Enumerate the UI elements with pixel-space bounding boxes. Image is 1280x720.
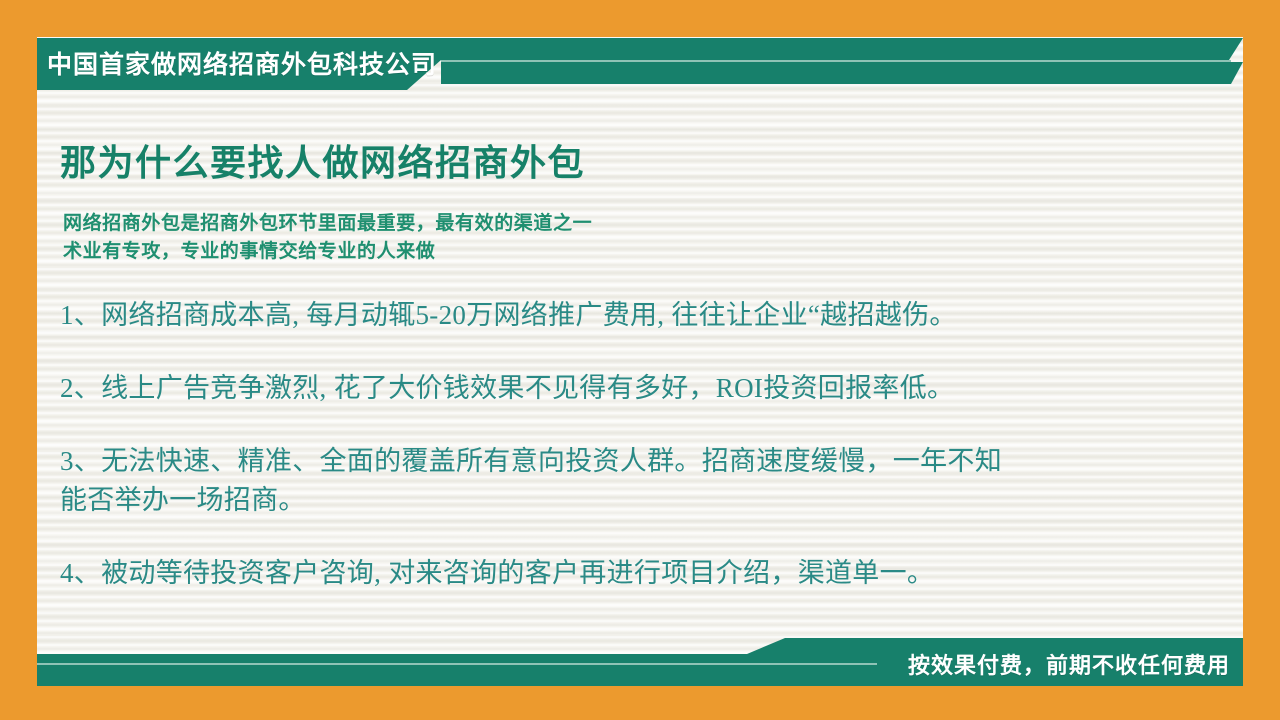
header-ribbon-label: 中国首家做网络招商外包科技公司 — [47, 47, 607, 83]
page-subtitle: 网络招商外包是招商外包环节里面最重要，最有效的渠道之一 术业有专攻，专业的事情交… — [63, 210, 592, 266]
slide-canvas: 中国首家做网络招商外包科技公司 那为什么要找人做网络招商外包 网络招商外包是招商… — [0, 0, 1280, 720]
subtitle-line-2: 术业有专攻，专业的事情交给专业的人来做 — [63, 238, 592, 266]
body-list: 1、网络招商成本高, 每月动辄5-20万网络推广费用, 往往让企业“越招越伤。 … — [60, 296, 1200, 593]
list-item-line-2: 能否举办一场招商。 — [60, 481, 1200, 520]
list-item: 4、被动等待投资客户咨询, 对来咨询的客户再进行项目介绍，渠道单一。 — [60, 554, 1200, 593]
subtitle-line-1: 网络招商外包是招商外包环节里面最重要，最有效的渠道之一 — [63, 210, 592, 238]
list-item-line-1: 3、无法快速、精准、全面的覆盖所有意向投资人群。招商速度缓慢，一年不知 — [60, 446, 1002, 476]
list-item: 3、无法快速、精准、全面的覆盖所有意向投资人群。招商速度缓慢，一年不知 能否举办… — [60, 442, 1200, 520]
list-item-line-1: 1、网络招商成本高, 每月动辄5-20万网络推广费用, 往往让企业“越招越伤。 — [60, 300, 957, 330]
list-item: 1、网络招商成本高, 每月动辄5-20万网络推广费用, 往往让企业“越招越伤。 — [60, 296, 1200, 335]
list-item: 2、线上广告竞争激烈, 花了大价钱效果不见得有多好，ROI投资回报率低。 — [60, 369, 1200, 408]
page-title: 那为什么要找人做网络招商外包 — [60, 134, 585, 186]
list-item-line-1: 2、线上广告竞争激烈, 花了大价钱效果不见得有多好，ROI投资回报率低。 — [60, 373, 954, 403]
list-item-line-1: 4、被动等待投资客户咨询, 对来咨询的客户再进行项目介绍，渠道单一。 — [60, 558, 934, 588]
footer-label: 按效果付费，前期不收任何费用 — [908, 648, 1230, 680]
